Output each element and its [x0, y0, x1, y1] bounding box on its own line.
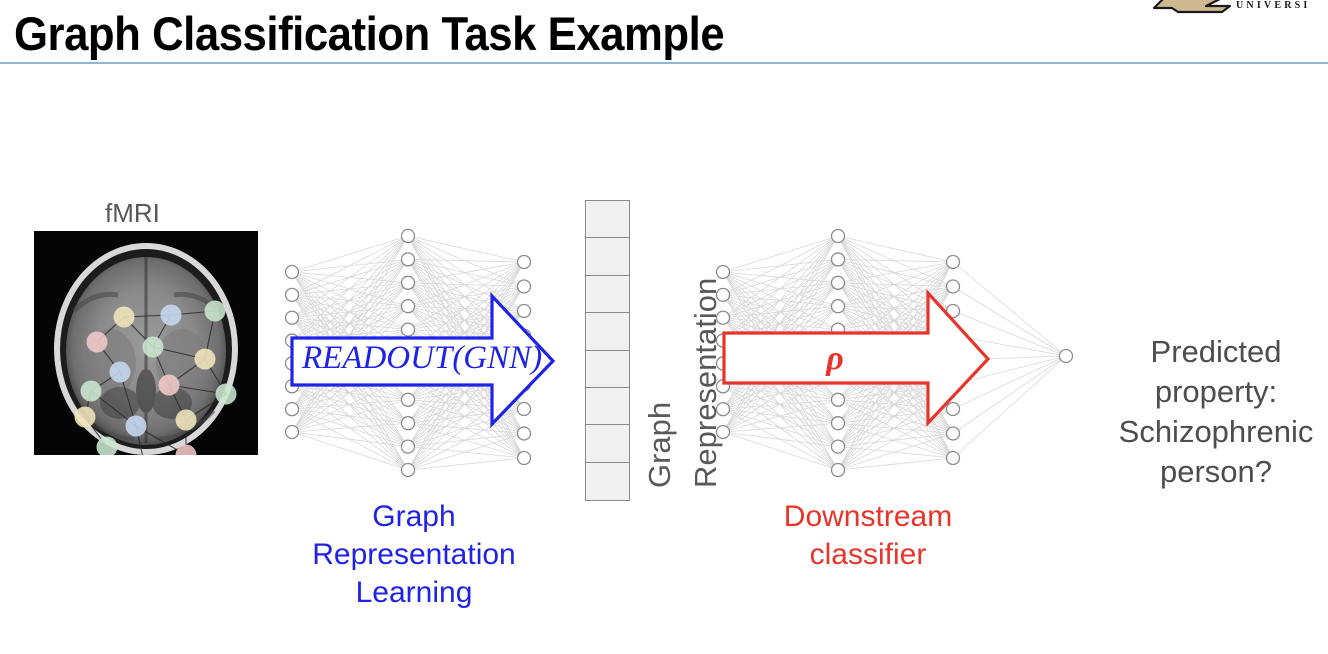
network-edge [838, 259, 953, 262]
network-edge [838, 306, 953, 335]
network-edge [723, 330, 838, 341]
network-node [947, 280, 960, 293]
brain-node [161, 305, 182, 326]
network-edge [723, 409, 838, 470]
network-edge [408, 236, 524, 434]
network-edge [292, 259, 408, 317]
vector-label-representation: Representation [688, 278, 724, 488]
network-edge [292, 236, 408, 409]
network-edge [838, 385, 953, 471]
network-edge [838, 434, 953, 447]
network-edge [838, 283, 953, 311]
network-edge [408, 385, 524, 447]
network-node [832, 440, 845, 453]
network-edge [723, 306, 838, 340]
caption-downstream-classifier: Downstream classifier [742, 498, 994, 574]
network-node [947, 256, 960, 269]
network-node [947, 427, 960, 440]
vector-label-graph: Graph [642, 402, 678, 488]
network-edge [408, 385, 524, 471]
fmri-brain-image [34, 231, 258, 455]
network-edge [408, 236, 524, 262]
network-node [947, 354, 960, 367]
network-edge [723, 259, 838, 409]
network-node [832, 323, 845, 336]
network-edge [723, 363, 838, 470]
network-edge [723, 259, 838, 317]
network-node [518, 378, 531, 391]
network-edge [723, 318, 838, 447]
network-edge [408, 259, 524, 286]
network-node [832, 393, 845, 406]
brain-node [114, 307, 135, 328]
network-edge [723, 409, 838, 423]
network-edge [408, 400, 524, 434]
network-edge [408, 409, 524, 447]
network-edge [723, 236, 838, 318]
network-edge [408, 423, 524, 458]
network-node [947, 452, 960, 465]
network-edge [292, 376, 408, 386]
network-edge [838, 385, 953, 424]
network-node [947, 378, 960, 391]
network-edge [838, 306, 953, 458]
network-edge [292, 376, 408, 432]
network-edge [408, 400, 524, 458]
brain-graph-svg [34, 231, 258, 455]
network-node [947, 329, 960, 342]
network-node [402, 440, 415, 453]
network-node [402, 300, 415, 313]
network-edge [292, 400, 408, 432]
network-edge [838, 330, 953, 336]
network-edge [723, 386, 838, 423]
rho-arrow-label: ρ [800, 340, 870, 378]
network-edge [838, 400, 953, 434]
network-edge [838, 259, 953, 409]
network-edge [292, 259, 408, 409]
brain-node [75, 407, 96, 428]
network-edge [838, 262, 953, 330]
network-edge [723, 272, 838, 283]
network-edge [292, 283, 408, 341]
network-node [402, 276, 415, 289]
network-edge [723, 409, 838, 446]
network-edge [723, 272, 838, 306]
network-edge [838, 376, 953, 458]
network-edge [838, 409, 953, 423]
network-edge [838, 287, 953, 330]
network-edge [408, 236, 524, 336]
network-edge [953, 356, 1066, 434]
network-edge [723, 283, 838, 295]
network-edge [408, 376, 524, 458]
network-node [402, 323, 415, 336]
network-node [832, 300, 845, 313]
network-edge [723, 432, 838, 447]
network-edge [292, 432, 408, 447]
network-edge [292, 432, 408, 470]
network-edge [408, 259, 524, 335]
fmri-label: fMRI [105, 198, 160, 229]
network-edge [292, 386, 408, 470]
network-node [286, 357, 299, 370]
network-edge [292, 259, 408, 294]
network-edge [292, 386, 408, 423]
network-edge [723, 306, 838, 318]
network-edge [723, 295, 838, 470]
network-edge [838, 236, 953, 287]
network-edge [408, 376, 524, 409]
brain-node [81, 381, 102, 402]
network-edge [838, 311, 953, 447]
network-edge [723, 386, 838, 400]
network-edge [292, 386, 408, 446]
network-edge [292, 306, 408, 318]
network-edge [838, 306, 953, 311]
network-edge [292, 306, 408, 340]
network-node [518, 403, 531, 416]
network-node [286, 380, 299, 393]
network-edge [953, 356, 1066, 385]
network-edge [723, 423, 838, 432]
network-edge [723, 386, 838, 446]
network-edge [838, 447, 953, 458]
network-edge [408, 447, 524, 458]
network-edge [838, 311, 953, 330]
network-edge [408, 311, 524, 470]
network-edge [723, 272, 838, 400]
network-edge [408, 311, 524, 330]
network-edge [408, 385, 524, 424]
network-edge [292, 423, 408, 432]
network-node [832, 253, 845, 266]
network-edge [838, 409, 953, 470]
brain-node [176, 410, 197, 431]
network-node [286, 426, 299, 439]
network-edge [953, 262, 1066, 356]
network-edge [723, 318, 838, 330]
network-edge [408, 385, 524, 400]
network-node [402, 417, 415, 430]
network-edge [408, 287, 524, 471]
network-edge [292, 409, 408, 446]
brain-node [159, 375, 180, 396]
network-edge [723, 432, 838, 470]
network-edge [838, 376, 953, 409]
network-edge [838, 400, 953, 409]
vector-cell [585, 200, 630, 239]
network-node [518, 280, 531, 293]
network-edge [292, 236, 408, 432]
network-edge [408, 262, 524, 283]
network-edge [408, 330, 524, 336]
network-edge [292, 330, 408, 341]
network-node [286, 334, 299, 347]
vector-cell [585, 462, 630, 501]
network-node [286, 266, 299, 279]
network-edge [292, 409, 408, 470]
network-edge [723, 259, 838, 272]
network-node [947, 403, 960, 416]
network-edge [292, 283, 408, 295]
network-edge [838, 236, 953, 434]
network-edge [723, 283, 838, 318]
network-edge [292, 236, 408, 295]
network-edge [292, 318, 408, 447]
brain-node [205, 301, 226, 322]
network-edge [838, 259, 953, 286]
network-edge [953, 311, 1066, 356]
network-edge [408, 409, 524, 423]
network-edge [408, 262, 524, 306]
network-edge [953, 356, 1066, 458]
network-edge [408, 259, 524, 311]
network-edge [408, 283, 524, 336]
vector-cell [585, 275, 630, 314]
network-edge [838, 236, 953, 311]
network-edge [723, 236, 838, 409]
purdue-university-logo: UNIVERSI [1144, 0, 1328, 26]
network-node [402, 253, 415, 266]
network-edge [838, 434, 953, 471]
network-edge [838, 409, 953, 447]
brain-node [126, 416, 147, 437]
predicted-property-text: Predicted property: Schizophrenic person… [1108, 332, 1324, 492]
network-edge [838, 262, 953, 306]
network-node [402, 464, 415, 477]
network-edge [408, 283, 524, 287]
network-edge [838, 376, 953, 433]
network-node [1060, 350, 1073, 363]
network-edge [838, 236, 953, 336]
network-edge [408, 434, 524, 447]
network-edge [953, 356, 1066, 409]
network-edge [408, 259, 524, 262]
vector-cell [585, 387, 630, 426]
network-edge [292, 272, 408, 306]
vector-cell [585, 350, 630, 389]
network-node [286, 288, 299, 301]
network-edge [292, 376, 408, 409]
network-edge [292, 272, 408, 283]
brain-node [87, 332, 108, 353]
brain-node [216, 384, 237, 405]
network-edge [292, 236, 408, 318]
vector-cell [585, 424, 630, 463]
network-edge [408, 283, 524, 311]
network-edge [838, 283, 953, 336]
network-edge [292, 409, 408, 423]
logo-wordmark: UNIVERSI [1236, 0, 1311, 11]
network-edge [408, 311, 524, 447]
network-edge [838, 400, 953, 458]
network-edge [838, 236, 953, 409]
network-edge [723, 259, 838, 294]
network-edge [723, 376, 838, 409]
readout-arrow-label: READOUT(GNN) [302, 340, 532, 377]
network-edge [838, 262, 953, 400]
network-edge [838, 287, 953, 471]
network-edge [838, 311, 953, 470]
network-edge [408, 306, 524, 458]
network-edge [408, 306, 524, 311]
network-edge [838, 458, 953, 470]
network-edge [292, 295, 408, 470]
network-edge [408, 376, 524, 384]
network-edge [838, 385, 953, 447]
network-edge [292, 400, 408, 409]
network-edge [408, 423, 524, 433]
network-edge [408, 236, 524, 287]
network-node [286, 311, 299, 324]
network-edge [723, 236, 838, 432]
network-edge [838, 385, 953, 400]
network-edge [723, 259, 838, 340]
network-node [947, 305, 960, 318]
network-node [286, 403, 299, 416]
network-node [402, 393, 415, 406]
network-edge [408, 259, 524, 409]
network-edge [408, 287, 524, 307]
network-edge [723, 400, 838, 432]
network-edge [723, 236, 838, 295]
network-edge [408, 262, 524, 400]
network-node [402, 230, 415, 243]
page-title: Graph Classification Task Example [14, 6, 724, 62]
network-edge [408, 306, 524, 335]
network-edge [838, 262, 953, 283]
network-node [832, 464, 845, 477]
network-edge [292, 272, 408, 400]
caption-graph-representation-learning: Graph Representation Learning [300, 498, 528, 612]
network-edge [838, 259, 953, 311]
network-edge [408, 236, 524, 409]
network-edge [408, 434, 524, 471]
network-edge [723, 295, 838, 306]
network-node [518, 256, 531, 269]
network-edge [292, 295, 408, 330]
network-edge [723, 283, 838, 341]
network-edge [953, 356, 1066, 360]
network-edge [723, 236, 838, 341]
network-edge [838, 259, 953, 335]
network-edge [838, 236, 953, 262]
network-edge [292, 259, 408, 272]
network-edge [292, 363, 408, 470]
network-edge [292, 295, 408, 306]
network-node [717, 266, 730, 279]
network-edge [838, 423, 953, 458]
network-node [832, 417, 845, 430]
network-edge [292, 318, 408, 330]
network-edge [723, 376, 838, 432]
network-node [832, 276, 845, 289]
network-node [518, 305, 531, 318]
network-edge [723, 386, 838, 470]
network-edge [723, 236, 838, 272]
network-edge [953, 336, 1066, 357]
brain-node [110, 362, 131, 383]
vector-cell [585, 237, 630, 276]
graph-representation-vector [585, 200, 630, 499]
network-edge [408, 400, 524, 409]
network-edge [292, 272, 408, 330]
network-node [518, 452, 531, 465]
network-edge [292, 236, 408, 272]
network-node [832, 230, 845, 243]
network-edge [723, 295, 838, 330]
network-edge [408, 376, 524, 433]
network-edge [292, 259, 408, 340]
network-edge [953, 287, 1066, 357]
title-divider [0, 62, 1328, 64]
network-edge [292, 283, 408, 318]
network-edge [838, 283, 953, 287]
brain-node [143, 337, 164, 358]
network-edge [838, 287, 953, 307]
network-edge [292, 236, 408, 341]
network-edge [408, 287, 524, 330]
vector-cell [585, 312, 630, 351]
network-edge [292, 386, 408, 400]
brain-node [195, 349, 216, 370]
network-edge [723, 400, 838, 409]
network-edge [408, 236, 524, 311]
network-edge [408, 262, 524, 330]
network-node [518, 427, 531, 440]
network-edge [838, 423, 953, 433]
network-edge [408, 409, 524, 470]
network-edge [723, 272, 838, 330]
network-edge [408, 458, 524, 470]
